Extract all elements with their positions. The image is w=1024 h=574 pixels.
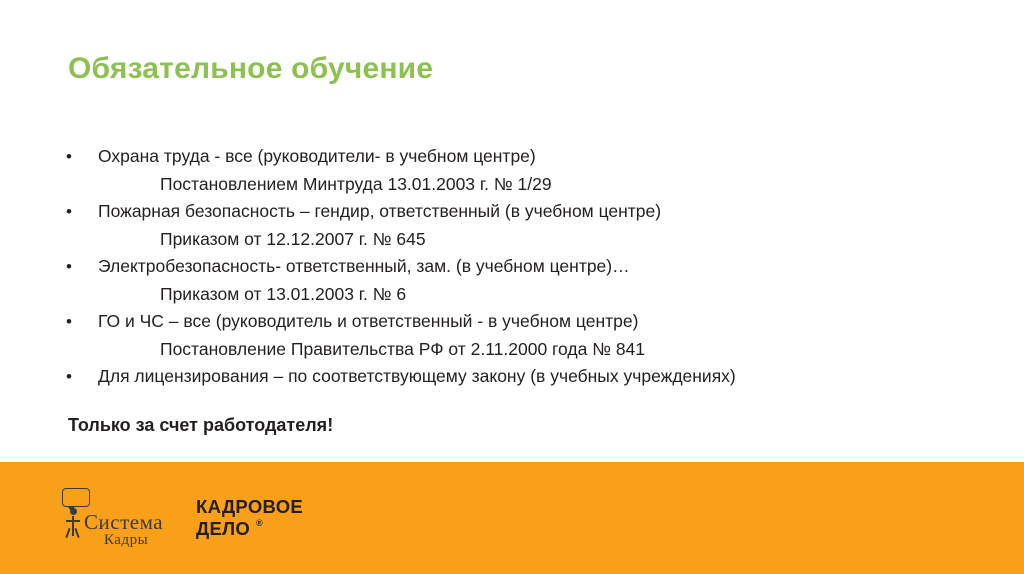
slide-body: • Охрана труда - все (руководители- в уч… — [60, 143, 970, 436]
slide: Обязательное обучение • Охрана труда - в… — [0, 0, 1024, 574]
person-body — [72, 516, 74, 536]
bullet-subtext: Постановлением Минтруда 13.01.2003 г. № … — [98, 171, 970, 199]
bullet-text: Пожарная безопасность – гендир, ответств… — [98, 198, 970, 226]
bullet-text: Электробезопасность- ответственный, зам.… — [98, 253, 970, 281]
bullet-text: Для лицензирования – по соответствующему… — [98, 363, 970, 391]
list-item: • Электробезопасность- ответственный, за… — [60, 253, 970, 308]
kadrovoe-logo-line2: ДЕЛО — [196, 518, 250, 540]
bullet-subtext: Приказом от 13.01.2003 г. № 6 — [98, 281, 970, 309]
sistema-kadry-logo: Система Кадры — [46, 488, 186, 550]
sistema-logo-line2: Кадры — [104, 532, 148, 549]
bullet-marker: • — [66, 253, 72, 281]
bullet-text: ГО и ЧС – все (руководитель и ответствен… — [98, 308, 970, 336]
bullet-marker: • — [66, 308, 72, 336]
registered-mark-icon: ® — [256, 518, 263, 528]
page-title: Обязательное обучение — [68, 52, 433, 86]
bullet-text: Охрана труда - все (руководители- в учеб… — [98, 143, 970, 171]
bullet-marker: • — [66, 363, 72, 391]
person-leg-right — [74, 528, 79, 538]
closing-statement: Только за счет работодателя! — [60, 415, 970, 436]
kadrovoe-logo-line1: КАДРОВОЕ — [196, 496, 303, 518]
bullet-subtext: Приказом от 12.12.2007 г. № 645 — [98, 226, 970, 254]
person-arms — [66, 520, 80, 522]
bullet-marker: • — [66, 143, 72, 171]
speech-bubble-icon — [62, 488, 90, 507]
list-item: • ГО и ЧС – все (руководитель и ответств… — [60, 308, 970, 363]
person-leg-left — [65, 528, 70, 538]
list-item: • Для лицензирования – по соответствующе… — [60, 363, 970, 391]
kadrovoe-delo-logo: КАДРОВОЕ ДЕЛО ® — [196, 496, 346, 546]
bullet-marker: • — [66, 198, 72, 226]
person-icon — [66, 508, 80, 536]
footer-bar: Система Кадры КАДРОВОЕ ДЕЛО ® — [0, 462, 1024, 574]
list-item: • Охрана труда - все (руководители- в уч… — [60, 143, 970, 198]
bullet-subtext: Постановление Правительства РФ от 2.11.2… — [98, 336, 970, 364]
list-item: • Пожарная безопасность – гендир, ответс… — [60, 198, 970, 253]
person-head — [70, 508, 77, 515]
bullet-list: • Охрана труда - все (руководители- в уч… — [60, 143, 970, 391]
